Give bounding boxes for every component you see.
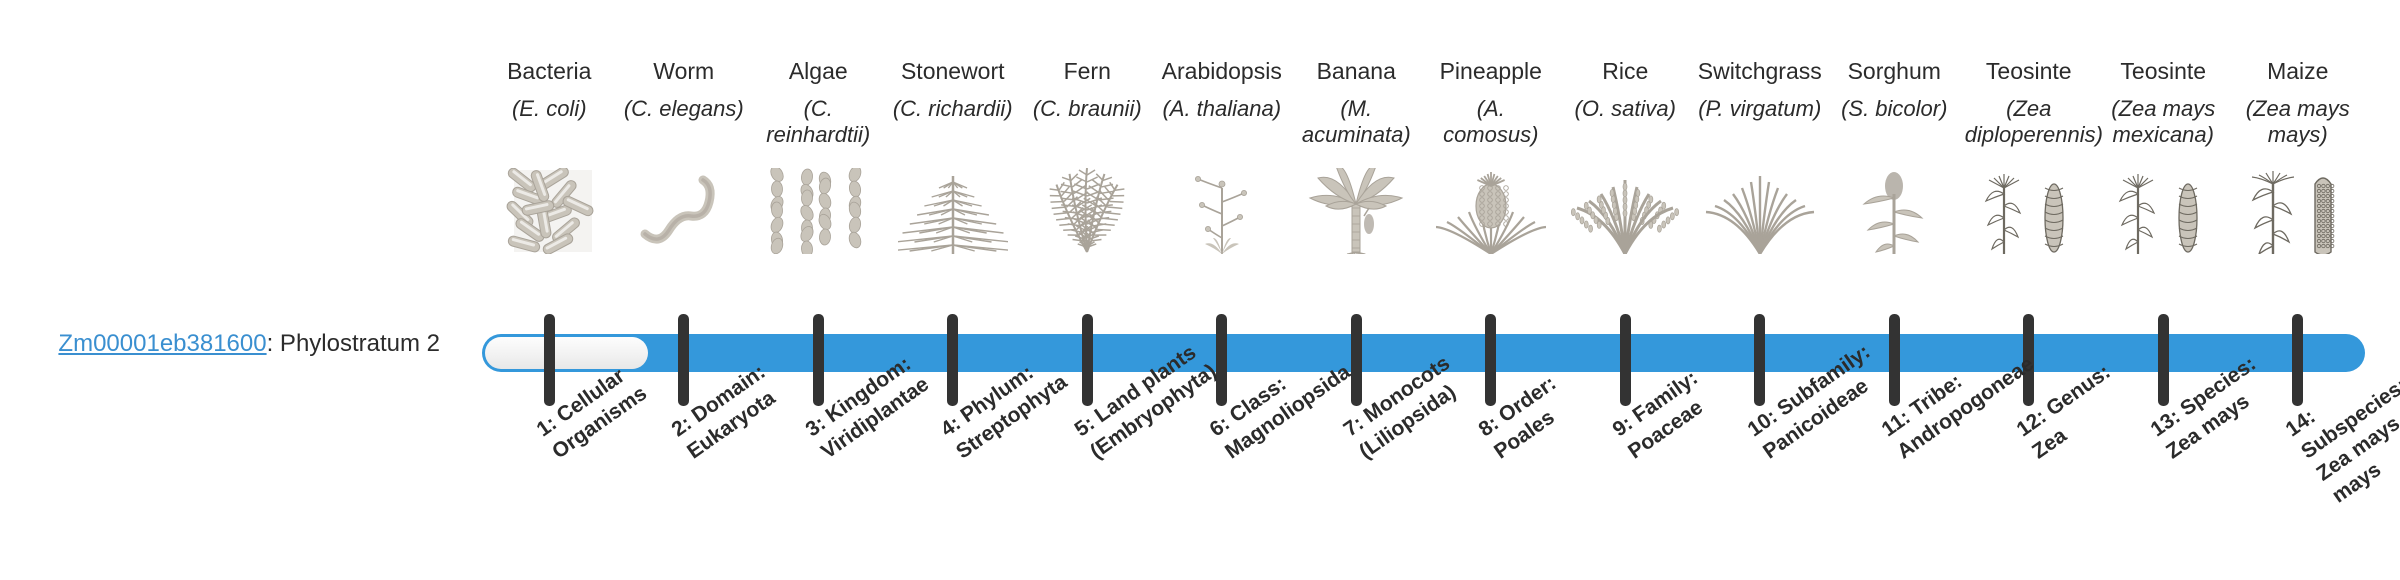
phylostratum-label: 2: Domain: Eukaryota [666, 335, 820, 465]
phylostratum-label: 1: Cellular Organisms [532, 335, 686, 465]
phylostratum-rank: Genus: Zea [2028, 360, 2115, 463]
phylostratum-label: 14: Subspecies: Zea mays mays [2280, 335, 2400, 510]
phylostratum-rank: Cellular Organisms [548, 364, 651, 463]
phylostratum-rank: Class: Magnoliopsida [1221, 360, 1355, 463]
phylostratum-label: 3: Kingdom: Viridiplantae [801, 335, 955, 465]
phylostratum-number: 4: [936, 412, 965, 442]
phylostratum-label: 9: Family: Poaceae [1608, 335, 1762, 465]
phylostratum-text: : Phylostratum 2 [267, 330, 440, 357]
phylostratum-rank: Land plants (Embryophyta) [1086, 341, 1221, 464]
phylostratum-number: 8: [1474, 412, 1503, 442]
phylostratum-rank: Family: Poaceae [1624, 366, 1707, 463]
phylostratum-label: 12: Genus: Zea [2011, 335, 2165, 465]
phylostratum-rank: Monocots (Liliopsida) [1355, 352, 1460, 464]
phylostratum-label: 8: Order: Poales [1473, 335, 1627, 465]
phylostratum-number: 2: [667, 412, 696, 442]
phylostratum-rank: Subspecies: Zea mays mays [2297, 374, 2400, 508]
phylostratum-label: 11: Tribe: Andropogoneae [1877, 335, 2031, 465]
phylostratum-label: 7: Monocots (Liliopsida) [1339, 335, 1493, 465]
phylostratum-rank: Phylum: Streptophyta [952, 361, 1071, 464]
phylostratum-labels: 1: Cellular Organisms2: Domain: Eukaryot… [482, 0, 2365, 580]
phylostratum-rank: Species: Zea mays [2162, 352, 2260, 463]
phylostratum-rank: Domain: Eukaryota [683, 360, 779, 463]
gene-phylostratum-label: Zm00001eb381600: Phylostratum 2 [58, 330, 440, 358]
phylostratum-rank: Tribe: Andropogoneae [1893, 352, 2038, 463]
phylostratum-label: 4: Phylum: Streptophyta [935, 335, 1089, 465]
phylostratum-label: 5: Land plants (Embryophyta) [1070, 335, 1224, 465]
phylostratum-rank: Kingdom: Viridiplantae [817, 352, 933, 463]
phylostratum-rank: Subfamily: Panicoideae [1759, 340, 1874, 463]
phylostratum-number: 6: [1205, 412, 1234, 442]
phylostratum-label: 6: Class: Magnoliopsida [1204, 335, 1358, 465]
gene-id-link[interactable]: Zm00001eb381600 [58, 330, 266, 357]
phylostratum-rank: Order: Poales [1490, 372, 1560, 464]
phylostratum-label: 13: Species: Zea mays [2146, 335, 2300, 465]
phylostratum-label: 10: Subfamily: Panicoideae [1742, 335, 1896, 465]
